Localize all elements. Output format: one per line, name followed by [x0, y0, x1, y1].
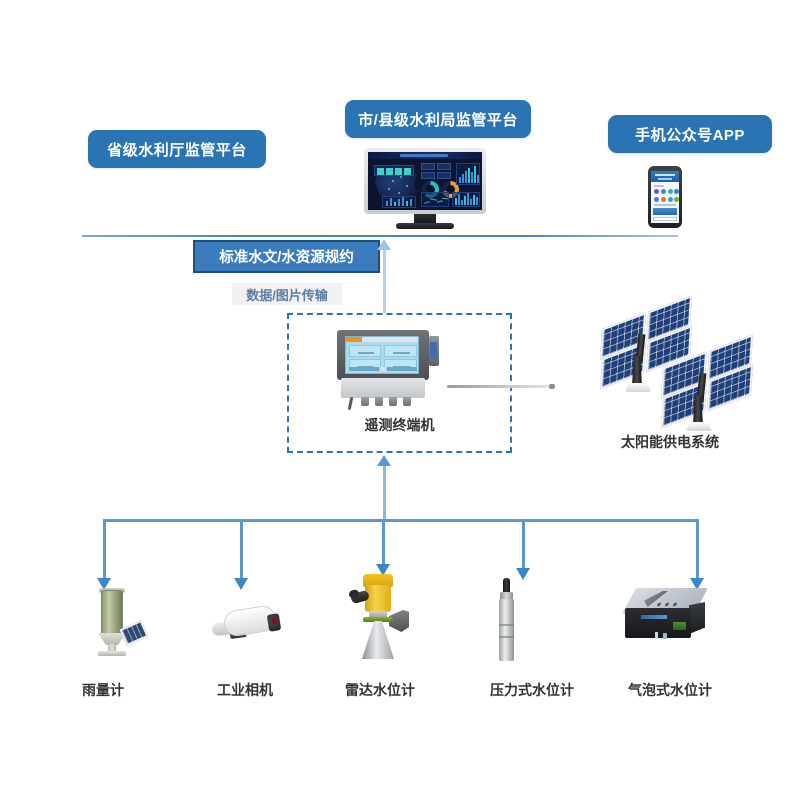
- platform-provincial[interactable]: 省级水利厅监管平台: [88, 130, 266, 168]
- antenna-tip: [549, 384, 555, 389]
- drop-line-pressure: [522, 519, 525, 571]
- dashboard-bar-chart: [456, 163, 480, 185]
- bubbler-box-icon: [625, 588, 715, 653]
- radar-level-gauge-icon: [345, 570, 415, 660]
- dashboard-bar-chart-2: [452, 192, 480, 207]
- protocol-label-text: 标准水文/水资源规约: [219, 246, 354, 267]
- diagram-canvas: 省级水利厅监管平台 市/县级水利局监管平台 手机公众号APP: [0, 0, 800, 800]
- uplink-arrow-head: [377, 239, 391, 250]
- drop-line-camera: [240, 519, 243, 581]
- drop-arrow-camera: [234, 578, 248, 590]
- drop-line-radar: [382, 519, 385, 567]
- platform-mobile-app-label: 手机公众号APP: [635, 124, 745, 145]
- protocol-label: 标准水文/水资源规约: [193, 240, 380, 273]
- platform-city-county-label: 市/县级水利局监管平台: [358, 109, 518, 130]
- sensor-uplink-arrow-head: [377, 455, 391, 466]
- sensor-label-pressure-level-gauge: 压力式水位计: [457, 680, 607, 700]
- sensor-uplink-stem: [383, 465, 386, 520]
- sensor-label-radar-level-gauge: 雷达水位计: [305, 680, 455, 700]
- platform-provincial-label: 省级水利厅监管平台: [107, 139, 247, 160]
- app-input[interactable]: [653, 217, 677, 221]
- dashboard-line-chart: [421, 192, 449, 207]
- platform-mobile-app[interactable]: 手机公众号APP: [608, 115, 772, 153]
- transmission-label: 数据/图片传输: [232, 283, 342, 305]
- rtu-cabinet-icon: [333, 328, 443, 408]
- platform-city-county[interactable]: 市/县级水利局监管平台: [345, 100, 531, 138]
- app-banner: [653, 208, 677, 215]
- sensor-bus-line: [103, 519, 698, 522]
- sensor-label-industrial-camera: 工业相机: [170, 680, 320, 700]
- transmission-label-text: 数据/图片传输: [246, 285, 328, 304]
- uplink-arrow-stem: [383, 248, 386, 313]
- monitor-stand-base: [396, 223, 454, 229]
- sensor-label-bubble-level-gauge: 气泡式水位计: [595, 680, 745, 700]
- sensor-label-rain-gauge: 雨量计: [28, 680, 178, 700]
- drop-line-bubble: [696, 519, 699, 581]
- monitor-icon: [364, 148, 486, 230]
- camera-icon: [210, 600, 290, 655]
- rain-gauge-icon: [85, 588, 155, 658]
- backbone-line: [82, 235, 678, 237]
- smartphone-icon: [648, 166, 682, 228]
- app-header: [651, 171, 679, 182]
- pressure-probe-icon: [492, 578, 522, 663]
- rtu-label: 遥测终端机: [287, 415, 512, 435]
- monitor-screen: [368, 152, 482, 210]
- rain-gauge-solar-panel-icon: [119, 620, 148, 646]
- drop-line-rain: [103, 519, 106, 581]
- antenna-icon: [447, 385, 552, 388]
- solar-power-label: 太阳能供电系统: [590, 432, 750, 452]
- dashboard-header: [368, 152, 482, 159]
- dashboard-trend-chart: [382, 196, 416, 208]
- dashboard-kpi-row: [374, 165, 414, 176]
- phone-screen: [651, 171, 679, 223]
